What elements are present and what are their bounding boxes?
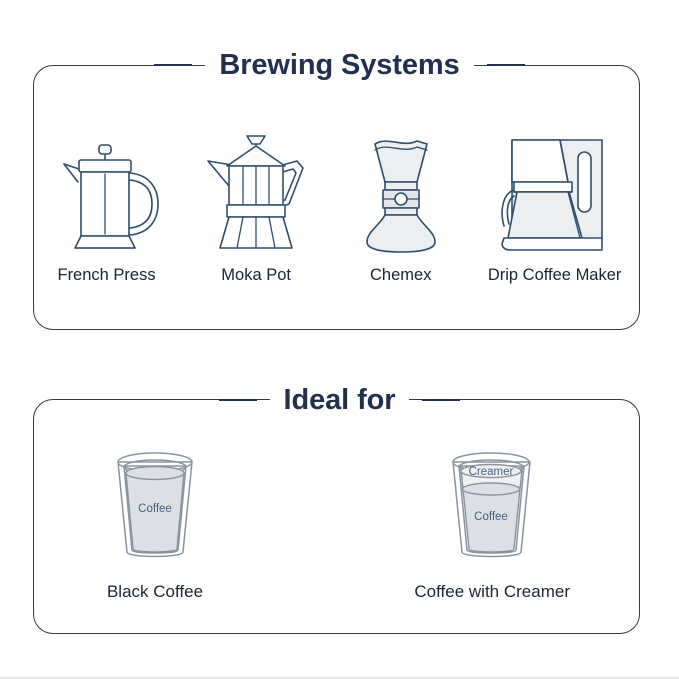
item-label: Moka Pot <box>221 266 291 285</box>
item-label: Coffee with Creamer <box>414 582 570 602</box>
french-press-icon <box>52 120 162 255</box>
infographic-page: Brewing Systems <box>0 0 679 679</box>
chemex-icon <box>351 120 451 255</box>
ideal-for-items: Coffee Black Coffee Creamer Coffee <box>100 440 570 602</box>
moka-pot-icon <box>199 120 314 255</box>
drip-coffee-maker-icon <box>490 120 620 255</box>
cup-layer-label: Coffee <box>474 511 508 523</box>
item-drip-coffee-maker[interactable]: Drip Coffee Maker <box>488 120 622 285</box>
item-moka-pot[interactable]: Moka Pot <box>199 120 314 285</box>
item-label: Black Coffee <box>107 582 203 602</box>
item-label: Chemex <box>370 266 431 285</box>
item-chemex[interactable]: Chemex <box>351 120 451 285</box>
cup-layer-label: Creamer <box>468 466 513 478</box>
item-label: Drip Coffee Maker <box>488 266 622 285</box>
item-label: French Press <box>57 266 155 285</box>
coffee-cup-creamer-icon: Creamer Coffee <box>435 440 550 565</box>
brewing-systems-items: French Press <box>33 120 640 285</box>
item-coffee-with-creamer[interactable]: Creamer Coffee Coffee with Creamer <box>414 440 570 602</box>
coffee-cup-icon: Coffee <box>100 440 210 565</box>
item-french-press[interactable]: French Press <box>52 120 162 285</box>
item-black-coffee[interactable]: Coffee Black Coffee <box>100 440 210 602</box>
cup-layer-label: Coffee <box>138 503 172 515</box>
